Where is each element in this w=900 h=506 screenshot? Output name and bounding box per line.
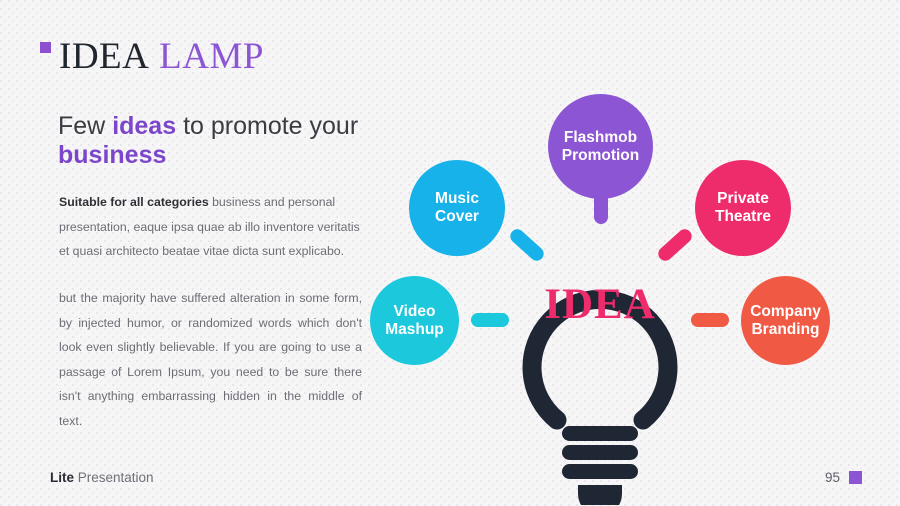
node-video-line2: Mashup bbox=[385, 321, 444, 339]
page-title-part1: IDEA bbox=[59, 36, 149, 77]
node-video[interactable]: Video Mashup bbox=[370, 276, 459, 365]
node-private-line1: Private bbox=[715, 190, 771, 208]
node-company-line2: Branding bbox=[750, 321, 821, 339]
square-marker-icon bbox=[849, 471, 862, 484]
footer-page: 95 bbox=[825, 470, 862, 485]
presentation-slide: IDEA LAMP Few ideas to promote your busi… bbox=[0, 0, 900, 506]
page-title: IDEA LAMP bbox=[40, 38, 264, 75]
node-flashmob[interactable]: Flashmob Promotion bbox=[548, 94, 653, 199]
node-video-line1: Video bbox=[385, 303, 444, 321]
node-flashmob-line2: Promotion bbox=[562, 147, 640, 165]
light-bulb-icon bbox=[505, 235, 695, 470]
node-company[interactable]: Company Branding bbox=[741, 276, 830, 365]
body-paragraph-1: Suitable for all categories business and… bbox=[59, 190, 362, 264]
node-music[interactable]: Music Cover bbox=[409, 160, 505, 256]
footer-brand: Lite Presentation bbox=[50, 470, 154, 485]
connector-video bbox=[471, 313, 509, 327]
node-flashmob-line1: Flashmob bbox=[562, 129, 640, 147]
node-music-line2: Cover bbox=[435, 208, 479, 226]
page-title-text: IDEA LAMP bbox=[59, 38, 264, 75]
connector-company bbox=[691, 313, 729, 327]
node-private[interactable]: Private Theatre bbox=[695, 160, 791, 256]
square-bullet-icon bbox=[40, 42, 51, 53]
body-paragraph-2: but the majority have suffered alteratio… bbox=[59, 286, 362, 433]
page-number: 95 bbox=[825, 470, 840, 485]
idea-lamp-diagram: IDEA Flashmob Promotion Music Cover Priv… bbox=[355, 70, 865, 470]
center-label: IDEA bbox=[505, 280, 695, 329]
page-title-part2: LAMP bbox=[159, 36, 264, 77]
footer-brand-rest: Presentation bbox=[74, 470, 154, 485]
node-company-line1: Company bbox=[750, 303, 821, 321]
node-music-line1: Music bbox=[435, 190, 479, 208]
footer-brand-bold: Lite bbox=[50, 470, 74, 485]
node-private-line2: Theatre bbox=[715, 208, 771, 226]
